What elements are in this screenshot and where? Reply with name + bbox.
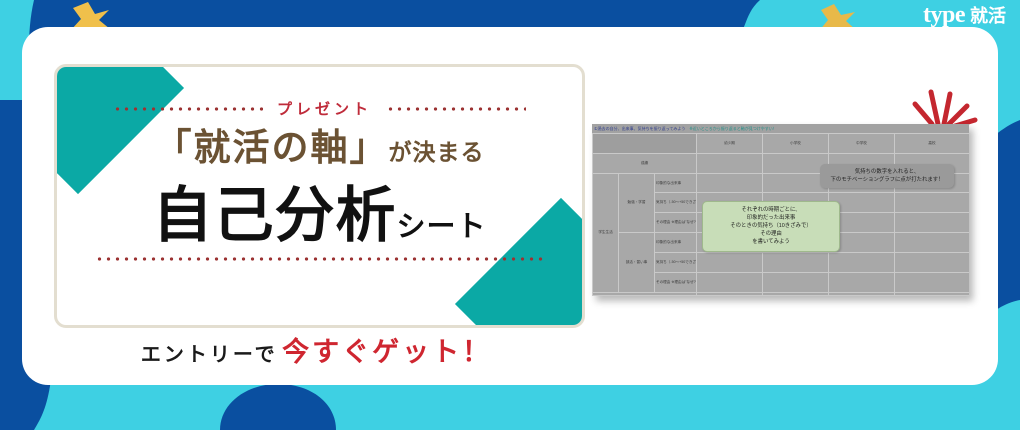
title-suffix-text: シート: [396, 211, 486, 243]
column-header: 小学校: [763, 134, 829, 154]
headline-title: 自己分析シート: [57, 167, 582, 254]
row-label-spacer: [593, 292, 697, 295]
headline-main-text: 「就活の軸」: [155, 127, 389, 168]
dotted-rule-underline: [95, 257, 544, 261]
present-label: プレゼント: [277, 98, 372, 119]
cell[interactable]: [763, 153, 829, 173]
row-label-grade: 成績: [593, 153, 697, 173]
callout-graph-hint: 気持ちの数字を入れると、下のモチベーショングラフに点が打たれます！: [820, 164, 954, 188]
cell[interactable]: [895, 292, 970, 295]
title-main-text: 自己分析: [152, 182, 396, 249]
cell[interactable]: [895, 233, 970, 253]
cell[interactable]: [697, 173, 763, 193]
cell[interactable]: [895, 252, 970, 272]
column-header: 幼少期: [697, 134, 763, 154]
row-label-reason: その理由 ※理由は"なぜ?"と問いかけよう: [655, 272, 697, 292]
worksheet-preview[interactable]: ①過去の自分、出来事、気持ちを振り返ってみよう ※近いところから振り返ると軸が見…: [592, 124, 969, 296]
cell[interactable]: [697, 252, 763, 272]
row-label-reason: その理由 ※理由は"なぜ?"と問いかけよう: [655, 213, 697, 233]
headline-subtitle: 「就活の軸」が決まる: [57, 117, 582, 171]
cell[interactable]: [763, 173, 829, 193]
cell[interactable]: [895, 272, 970, 292]
cell[interactable]: [895, 193, 970, 213]
cell[interactable]: [829, 272, 895, 292]
column-header: 中学校: [829, 134, 895, 154]
cta-line: エントリーで 今すぐゲット！: [54, 330, 579, 369]
row-group-club: 部活・習い事: [619, 233, 655, 292]
dotted-rule-left: [113, 107, 263, 111]
worksheet-title-secondary: ※近いところから振り返ると軸が見つけやすい！: [689, 126, 776, 132]
logo-type-text: type: [923, 2, 965, 29]
cta-highlight: 今すぐゲット！: [282, 337, 492, 367]
brand-logo[interactable]: type 就活: [923, 2, 1006, 29]
table-row-header: 幼少期 小学校 中学校 高校: [593, 134, 970, 154]
dotted-rule-right: [386, 107, 526, 111]
present-banner: プレゼント: [57, 98, 582, 119]
cell[interactable]: [829, 252, 895, 272]
row-label-event: 印象的な出来事: [655, 173, 697, 193]
cta-prefix: エントリーで: [141, 344, 278, 366]
row-label-feeling: 気持ち（-50～+50できざみ）: [655, 252, 697, 272]
offer-card: プレゼント 「就活の軸」が決まる 自己分析シート: [54, 64, 585, 328]
cell[interactable]: [763, 292, 829, 295]
worksheet-title-bar: ①過去の自分、出来事、気持ちを振り返ってみよう ※近いところから振り返ると軸が見…: [592, 124, 969, 133]
row-label-feeling: 気持ち（-50～+50できざみ）: [655, 193, 697, 213]
worksheet-title-primary: ①過去の自分、出来事、気持ちを振り返ってみよう: [594, 126, 685, 132]
row-label-event: 印象的な出来事: [655, 233, 697, 253]
row-group-left: 学生生活: [593, 173, 619, 292]
row-group-study: 勉強・学習: [619, 173, 655, 232]
table-row: [593, 292, 970, 295]
cell[interactable]: [697, 292, 763, 295]
cell[interactable]: [763, 272, 829, 292]
column-header: 高校: [895, 134, 970, 154]
banner-root: type 就活 プレゼント 「就活の軸」が決まる 自己分析シート エントリーで …: [0, 0, 1020, 430]
cell[interactable]: [697, 153, 763, 173]
logo-jp-text: 就活: [970, 2, 1006, 28]
cell[interactable]: [763, 252, 829, 272]
callout-writing-hint: それぞれの時期ごとに、印象的だった出来事そのときの気持ち（10きざみで）その理由…: [702, 201, 840, 252]
cell[interactable]: [895, 213, 970, 233]
headline-suffix-text: が決まる: [389, 139, 485, 165]
cell[interactable]: [697, 272, 763, 292]
cell[interactable]: [829, 292, 895, 295]
